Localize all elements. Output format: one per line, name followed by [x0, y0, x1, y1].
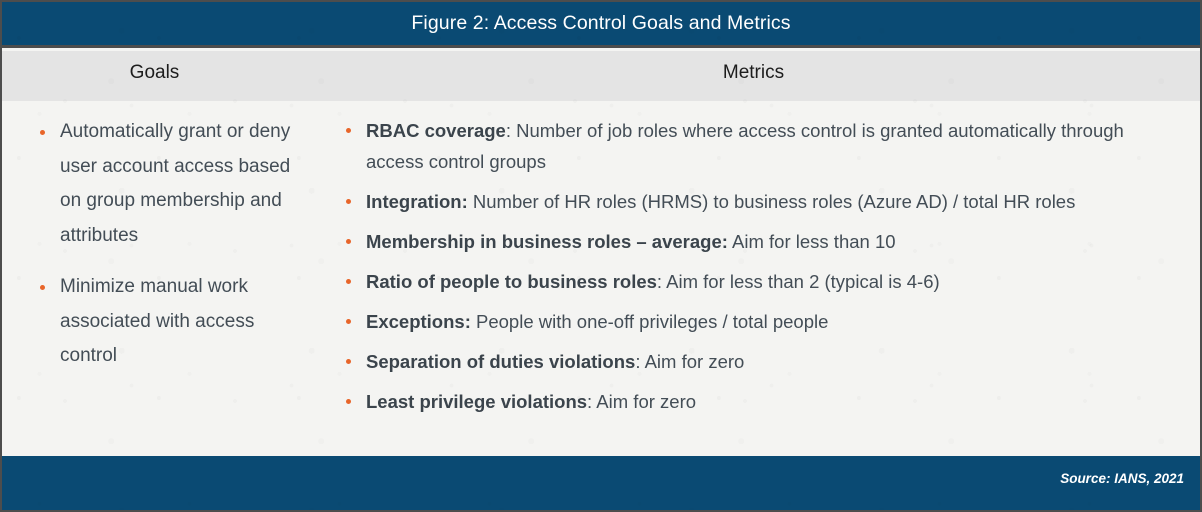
metric-label: Least privilege violations	[366, 391, 587, 412]
column-header-goals-label: Goals	[130, 62, 180, 84]
bullet-dot-icon	[40, 130, 45, 135]
list-item: Membership in business roles – average: …	[342, 226, 1186, 257]
column-header-metrics-label: Metrics	[723, 62, 784, 84]
metrics-column: RBAC coverage: Number of job roles where…	[332, 101, 1200, 458]
bullet-dot-icon	[346, 199, 351, 204]
list-item: RBAC coverage: Number of job roles where…	[342, 115, 1186, 177]
page-title: Figure 2: Access Control Goals and Metri…	[411, 12, 790, 35]
metric-label: Exceptions:	[366, 311, 471, 332]
metric-label: Ratio of people to business roles	[366, 271, 657, 292]
goals-list: Automatically grant or deny user account…	[36, 115, 314, 374]
bullet-dot-icon	[40, 285, 45, 290]
source-attribution: Source: IANS, 2021	[1060, 471, 1184, 486]
list-item: Minimize manual work associated with acc…	[36, 270, 314, 374]
goal-text: Minimize manual work associated with acc…	[60, 276, 254, 366]
list-item: Separation of duties violations: Aim for…	[342, 346, 1186, 377]
column-header-row: Goals Metrics	[2, 51, 1200, 101]
column-header-goals: Goals	[2, 51, 307, 101]
list-item: Ratio of people to business roles: Aim f…	[342, 266, 1186, 297]
metric-description: : Aim for zero	[587, 391, 696, 412]
metric-description: Aim for less than 10	[728, 231, 896, 252]
list-item: Exceptions: People with one-off privileg…	[342, 306, 1186, 337]
bullet-dot-icon	[346, 128, 351, 133]
bullet-dot-icon	[346, 279, 351, 284]
figure-container: Figure 2: Access Control Goals and Metri…	[0, 0, 1202, 512]
metric-label: Separation of duties violations	[366, 351, 635, 372]
list-item: Least privilege violations: Aim for zero	[342, 386, 1186, 417]
metric-description: : Aim for less than 2 (typical is 4-6)	[657, 271, 940, 292]
bullet-dot-icon	[346, 399, 351, 404]
list-item: Integration: Number of HR roles (HRMS) t…	[342, 186, 1186, 217]
metric-description: People with one-off privileges / total p…	[471, 311, 829, 332]
figure-title-bar: Figure 2: Access Control Goals and Metri…	[2, 2, 1200, 48]
figure-footer-bar: Source: IANS, 2021	[2, 456, 1200, 510]
goal-text: Automatically grant or deny user account…	[60, 121, 290, 246]
metric-label: Integration:	[366, 191, 468, 212]
bullet-dot-icon	[346, 359, 351, 364]
metric-description: Number of HR roles (HRMS) to business ro…	[468, 191, 1076, 212]
metrics-list: RBAC coverage: Number of job roles where…	[342, 115, 1186, 417]
metric-label: RBAC coverage	[366, 120, 506, 141]
column-header-metrics: Metrics	[307, 51, 1200, 101]
bullet-dot-icon	[346, 239, 351, 244]
list-item: Automatically grant or deny user account…	[36, 115, 314, 253]
metric-description: : Aim for zero	[635, 351, 744, 372]
goals-column: Automatically grant or deny user account…	[2, 101, 332, 458]
figure-content: Automatically grant or deny user account…	[2, 101, 1200, 458]
metric-label: Membership in business roles – average:	[366, 231, 728, 252]
bullet-dot-icon	[346, 319, 351, 324]
